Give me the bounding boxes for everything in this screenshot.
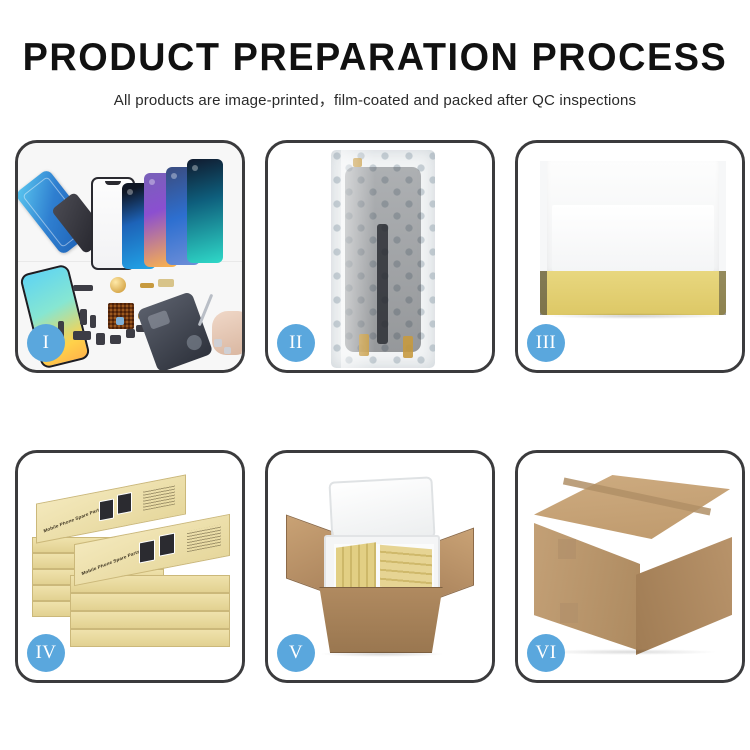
step-badge-5: V [277, 634, 315, 672]
box-label-text-back: Mobile Phone Spare Parts [43, 506, 102, 533]
page-subtitle: All products are image-printed，film-coat… [4, 88, 747, 110]
process-step-grid: I II [15, 140, 735, 683]
retail-boxes-group-a-icon [336, 542, 376, 593]
step-badge-1: I [27, 324, 65, 362]
step-badge-4: IV [27, 634, 65, 672]
step-badge-2: II [277, 324, 315, 362]
carton-tape-lower-icon [560, 603, 578, 623]
process-step-card-3: III [515, 140, 745, 373]
page-title: PRODUCT PREPARATION PROCESS [11, 38, 739, 79]
speaker-module-icon [110, 277, 126, 293]
carton-body-icon [314, 587, 448, 653]
bubble-wrap-bag-icon [331, 150, 435, 368]
gold-tab-top-icon [353, 158, 362, 167]
box-label-text-front: Mobile Phone Spare Parts [81, 549, 140, 576]
gold-connector-left-icon [359, 334, 369, 356]
tweezers-icon [198, 294, 214, 327]
phone-teal-icon [187, 159, 223, 263]
process-step-card-2: II [265, 140, 495, 373]
header: PRODUCT PREPARATION PROCESS All products… [0, 38, 750, 110]
foam-lid-icon [328, 476, 435, 543]
step-badge-3: III [527, 324, 565, 362]
logic-board-icon [108, 303, 134, 329]
process-step-card-1: I [15, 140, 245, 373]
process-step-card-4: Mobile Phone Spare Parts Mobile Phone Sp… [15, 450, 245, 683]
flex-cable-icon [377, 224, 388, 344]
carton-right-face-icon [636, 537, 732, 655]
gold-connector-right-icon [403, 336, 413, 358]
carton-tape-upper-icon [558, 539, 576, 559]
process-step-card-6: VI [515, 450, 745, 683]
phone-back-cover-icon [136, 291, 213, 370]
product-preparation-infographic: PRODUCT PREPARATION PROCESS All products… [0, 0, 750, 750]
carton-left-face-icon [534, 523, 640, 651]
foam-sheet-icon [552, 205, 714, 271]
step-badge-6: VI [527, 634, 565, 672]
kraft-box-front-icon [540, 271, 726, 315]
process-step-card-5: V [265, 450, 495, 683]
retail-boxes-group-b-icon [380, 545, 432, 592]
